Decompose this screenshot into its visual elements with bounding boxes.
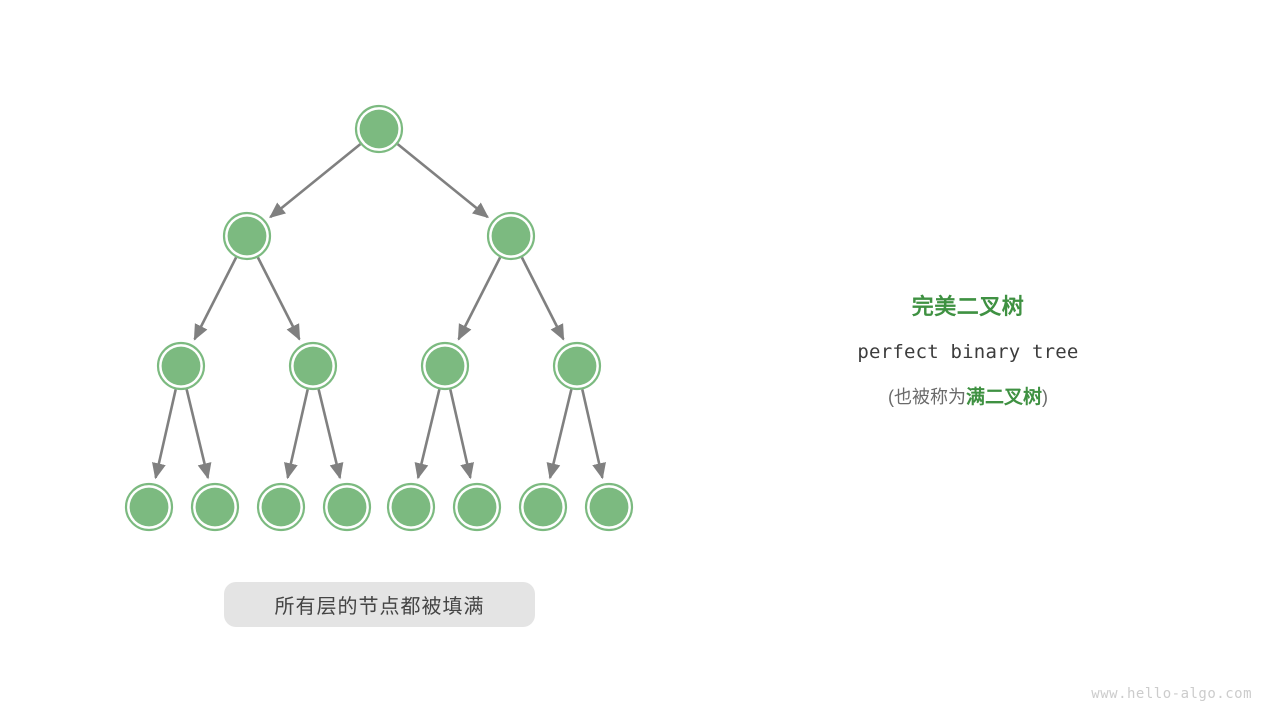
tree-node[interactable] (356, 106, 402, 152)
tree-edge (582, 389, 602, 477)
tree-node-fill (262, 488, 301, 527)
tree-edge (398, 144, 488, 217)
legend-alias-prefix: (也被称为 (888, 387, 966, 407)
watermark-label: www.hello-algo.com (1091, 686, 1252, 702)
tree-node[interactable] (454, 484, 500, 530)
tree-edge (550, 389, 571, 478)
tree-node-fill (524, 488, 563, 527)
tree-node-fill (228, 217, 267, 256)
tree-node[interactable] (192, 484, 238, 530)
tree-node[interactable] (126, 484, 172, 530)
tree-node-fill (392, 488, 431, 527)
tree-node[interactable] (488, 213, 534, 259)
tree-node[interactable] (158, 343, 204, 389)
tree-node-fill (492, 217, 531, 256)
legend-alias-highlight: 满二叉树 (966, 387, 1042, 408)
tree-node-fill (196, 488, 235, 527)
tree-edge (418, 389, 439, 478)
legend-alias-suffix: ) (1042, 387, 1048, 407)
legend-alias: (也被称为满二叉树) (800, 382, 1136, 413)
caption-badge: 所有层的节点都被填满 (224, 582, 535, 627)
legend-subtitle: perfect binary tree (800, 336, 1136, 368)
tree-node-fill (558, 347, 597, 386)
tree-edge (258, 257, 300, 339)
tree-edge (522, 257, 564, 339)
tree-edge (156, 389, 176, 477)
tree-node[interactable] (586, 484, 632, 530)
tree-node-layer (126, 106, 632, 530)
tree-node-fill (328, 488, 367, 527)
tree-node[interactable] (258, 484, 304, 530)
tree-node-fill (162, 347, 201, 386)
tree-node-fill (426, 347, 465, 386)
tree-edge (319, 389, 340, 478)
tree-edge-layer (156, 144, 603, 478)
tree-node-fill (458, 488, 497, 527)
legend-title: 完美二叉树 (800, 292, 1136, 322)
tree-edge (450, 389, 470, 477)
tree-edge (187, 389, 208, 478)
tree-node-fill (294, 347, 333, 386)
tree-node-fill (360, 110, 399, 149)
diagram-canvas: 完美二叉树 perfect binary tree (也被称为满二叉树) 所有层… (0, 0, 1280, 720)
tree-edge (195, 257, 237, 339)
tree-node[interactable] (224, 213, 270, 259)
tree-node[interactable] (388, 484, 434, 530)
tree-edge (270, 144, 360, 217)
tree-node-fill (130, 488, 169, 527)
legend-block: 完美二叉树 perfect binary tree (也被称为满二叉树) (800, 292, 1136, 413)
caption-label: 所有层的节点都被填满 (275, 590, 485, 619)
tree-node[interactable] (324, 484, 370, 530)
tree-edge (459, 257, 501, 339)
tree-node[interactable] (422, 343, 468, 389)
tree-node[interactable] (520, 484, 566, 530)
tree-node-fill (590, 488, 629, 527)
tree-node[interactable] (290, 343, 336, 389)
tree-edge (288, 389, 308, 477)
tree-node[interactable] (554, 343, 600, 389)
